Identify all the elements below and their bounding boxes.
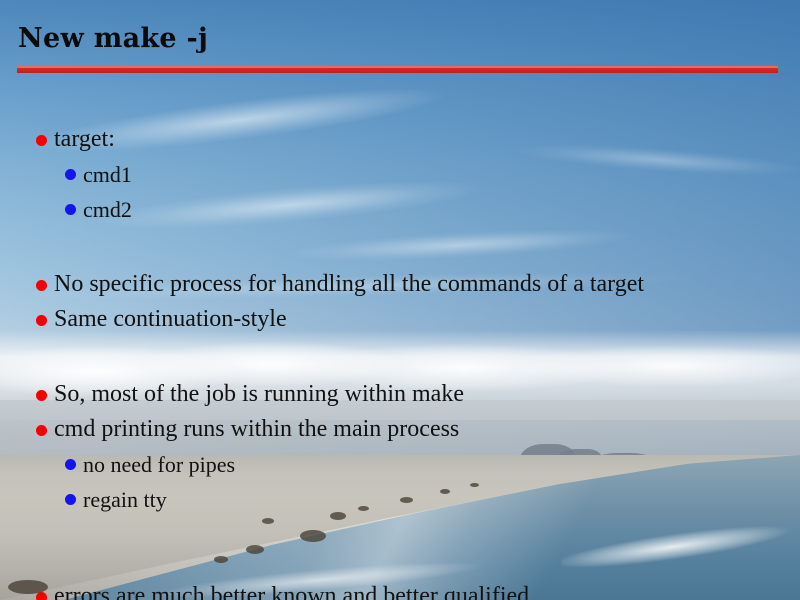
- bullet-item: errors are much better known and better …: [0, 580, 800, 600]
- bullet-dot-blue-icon: [65, 169, 76, 180]
- bullet-list: target: cmd1 cmd2 No specific process fo…: [0, 123, 800, 600]
- bullet-dot-blue-icon: [65, 204, 76, 215]
- bullet-gap: [0, 228, 800, 268]
- slide-title: New make -j: [18, 22, 208, 56]
- bullet-gap: [0, 518, 800, 558]
- bullet-gap: [0, 338, 800, 378]
- bullet-dot-red-icon: [36, 280, 47, 291]
- bullet-item: cmd2: [0, 193, 800, 228]
- bullet-item: cmd printing runs within the main proces…: [0, 413, 800, 448]
- bullet-dot-red-icon: [36, 315, 47, 326]
- bullet-item: So, most of the job is running within ma…: [0, 378, 800, 413]
- slide-content: New make -j target: cmd1 cmd2 No specifi…: [0, 0, 800, 600]
- bullet-dot-blue-icon: [65, 494, 76, 505]
- bullet-item: no need for pipes: [0, 448, 800, 483]
- bullet-text: cmd1: [83, 158, 132, 191]
- bullet-item: cmd1: [0, 158, 800, 193]
- title-underline-rule: [17, 66, 778, 73]
- bullet-text: cmd printing runs within the main proces…: [54, 413, 459, 446]
- bullet-text: So, most of the job is running within ma…: [54, 378, 464, 411]
- bullet-gap: [0, 558, 800, 580]
- bullet-dot-blue-icon: [65, 459, 76, 470]
- bullet-dot-red-icon: [36, 592, 47, 600]
- bullet-item: No specific process for handling all the…: [0, 268, 800, 303]
- bullet-dot-red-icon: [36, 425, 47, 436]
- bullet-dot-red-icon: [36, 135, 47, 146]
- bullet-item: regain tty: [0, 483, 800, 518]
- bullet-dot-red-icon: [36, 390, 47, 401]
- bullet-text: target:: [54, 123, 115, 156]
- bullet-item: target:: [0, 123, 800, 158]
- bullet-item: Same continuation-style: [0, 303, 800, 338]
- bullet-text: cmd2: [83, 193, 132, 226]
- bullet-text: No specific process for handling all the…: [54, 268, 644, 301]
- slide: New make -j target: cmd1 cmd2 No specifi…: [0, 0, 800, 600]
- bullet-text: regain tty: [83, 483, 167, 516]
- bullet-text: no need for pipes: [83, 448, 235, 481]
- bullet-text: Same continuation-style: [54, 303, 287, 336]
- bullet-text: errors are much better known and better …: [54, 580, 529, 600]
